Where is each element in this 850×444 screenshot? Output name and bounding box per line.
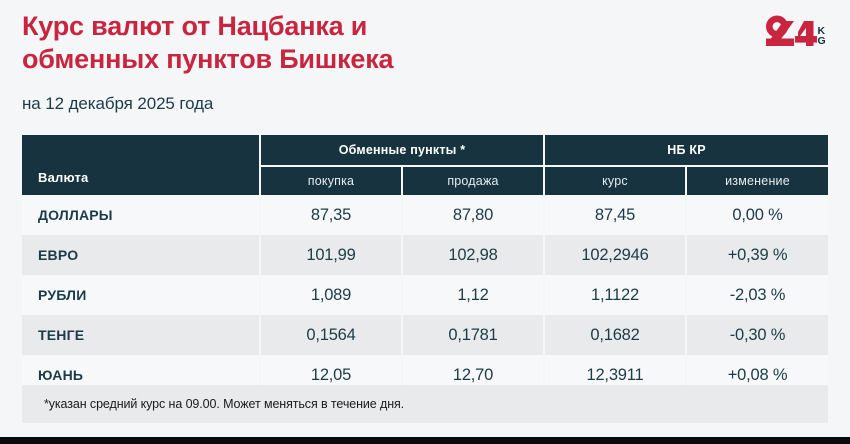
cell-buy: 101,99 <box>260 235 402 275</box>
page-subtitle: на 12 декабря 2025 года <box>22 76 642 115</box>
page-title: Курс валют от Нацбанка и обменных пункто… <box>22 10 642 76</box>
column-group-header-nbkr: НБ КР <box>544 135 828 166</box>
cell-nbkr-change: +0,39 % <box>686 235 828 275</box>
cell-currency-name: РУБЛИ <box>22 275 260 315</box>
table-row: ЕВРО 101,99 102,98 102,2946 +0,39 % <box>22 235 828 275</box>
cell-nbkr-change: 0,00 % <box>686 195 828 235</box>
cell-nbkr-rate: 87,45 <box>544 195 686 235</box>
cell-sell: 87,80 <box>402 195 544 235</box>
column-header-buy: покупка <box>260 166 402 195</box>
table-row: ТЕНГЕ 0,1564 0,1781 0,1682 -0,30 % <box>22 315 828 355</box>
column-header-rate: курс <box>544 166 686 195</box>
table-group-header-row: Валюта Обменные пункты * НБ КР <box>22 135 828 166</box>
cell-sell: 1,12 <box>402 275 544 315</box>
bottom-bar <box>0 437 850 444</box>
cell-currency-name: ЕВРО <box>22 235 260 275</box>
svg-text:G: G <box>818 35 826 47</box>
rates-table: Валюта Обменные пункты * НБ КР покупка п… <box>22 135 828 395</box>
column-group-header-exchange-points: Обменные пункты * <box>260 135 544 166</box>
cell-nbkr-rate: 1,1122 <box>544 275 686 315</box>
cell-nbkr-change: -2,03 % <box>686 275 828 315</box>
column-header-sell: продажа <box>402 166 544 195</box>
column-header-currency: Валюта <box>22 135 260 195</box>
cell-sell: 0,1781 <box>402 315 544 355</box>
rates-table-wrapper: Валюта Обменные пункты * НБ КР покупка п… <box>22 135 828 395</box>
cell-buy: 1,089 <box>260 275 402 315</box>
cell-currency-name: ТЕНГЕ <box>22 315 260 355</box>
cell-buy: 0,1564 <box>260 315 402 355</box>
header-block: Курс валют от Нацбанка и обменных пункто… <box>22 10 642 115</box>
column-header-change: изменение <box>686 166 828 195</box>
cell-nbkr-rate: 0,1682 <box>544 315 686 355</box>
cell-currency-name: ДОЛЛАРЫ <box>22 195 260 235</box>
cell-nbkr-rate: 102,2946 <box>544 235 686 275</box>
footnote-band: *указан средний курс на 09.00. Может мен… <box>22 385 828 423</box>
infographic-page: Курс валют от Нацбанка и обменных пункто… <box>0 0 850 444</box>
cell-sell: 102,98 <box>402 235 544 275</box>
logo-24kg-icon: K G <box>759 12 833 52</box>
logo-24kg[interactable]: K G <box>759 12 833 52</box>
table-row: РУБЛИ 1,089 1,12 1,1122 -2,03 % <box>22 275 828 315</box>
cell-nbkr-change: -0,30 % <box>686 315 828 355</box>
cell-buy: 87,35 <box>260 195 402 235</box>
table-row: ДОЛЛАРЫ 87,35 87,80 87,45 0,00 % <box>22 195 828 235</box>
table-body: ДОЛЛАРЫ 87,35 87,80 87,45 0,00 % ЕВРО 10… <box>22 195 828 395</box>
footnote-text: *указан средний курс на 09.00. Может мен… <box>22 397 404 411</box>
